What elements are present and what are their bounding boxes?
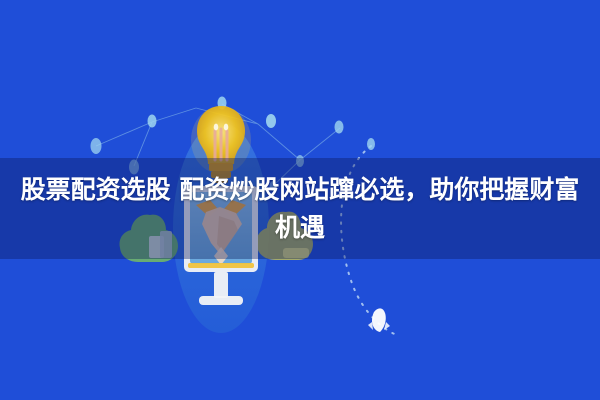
node-dot-upper-right bbox=[367, 138, 375, 150]
headline-container: 股票配资选股 配资炒股网站蹿必选，助你把握财富机遇 bbox=[0, 158, 600, 259]
page-title: 股票配资选股 配资炒股网站蹿必选，助你把握财富机遇 bbox=[14, 171, 586, 247]
rocket-icon bbox=[368, 308, 390, 332]
promo-banner: 股票配资选股 配资炒股网站蹿必选，助你把握财富机遇 bbox=[0, 0, 600, 400]
